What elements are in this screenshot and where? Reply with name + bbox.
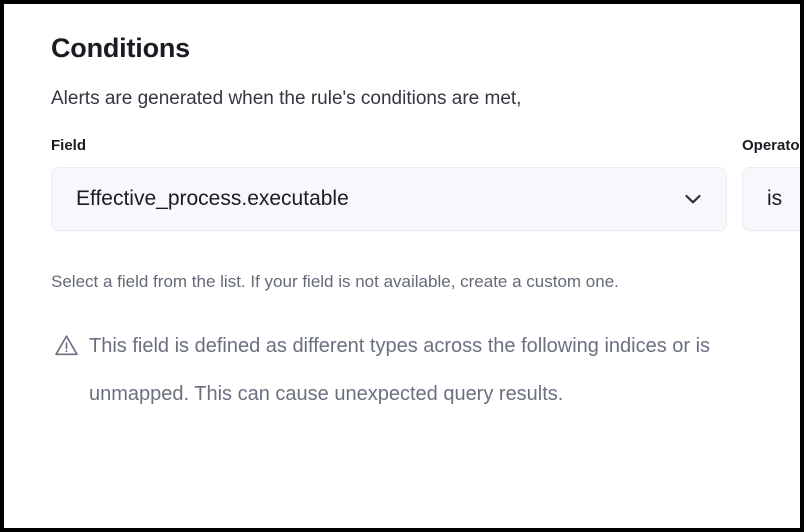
screenshot-root: Conditions Alerts are generated when the… [0, 0, 804, 532]
field-column: Field Effective_process.executable [51, 136, 727, 231]
field-help-text: Select a field from the list. If your fi… [51, 269, 681, 294]
page-title: Conditions [51, 32, 800, 64]
warning-triangle-icon [54, 333, 79, 358]
condition-row: Field Effective_process.executable Opera… [51, 136, 800, 256]
browser-viewport: Conditions Alerts are generated when the… [4, 4, 800, 528]
panel-description: Alerts are generated when the rule's con… [51, 86, 800, 112]
operator-select[interactable]: is [742, 167, 800, 231]
field-select[interactable]: Effective_process.executable [51, 167, 727, 231]
chevron-down-icon[interactable] [682, 188, 704, 210]
operator-label: Operator [742, 136, 800, 156]
field-label: Field [51, 136, 727, 156]
operator-select-value: is [743, 187, 782, 211]
field-warning: This field is defined as different types… [51, 322, 731, 418]
field-select-value: Effective_process.executable [52, 187, 349, 211]
conditions-panel: Conditions Alerts are generated when the… [4, 4, 800, 528]
field-warning-text: This field is defined as different types… [89, 335, 710, 405]
operator-column: Operator is [742, 136, 800, 231]
